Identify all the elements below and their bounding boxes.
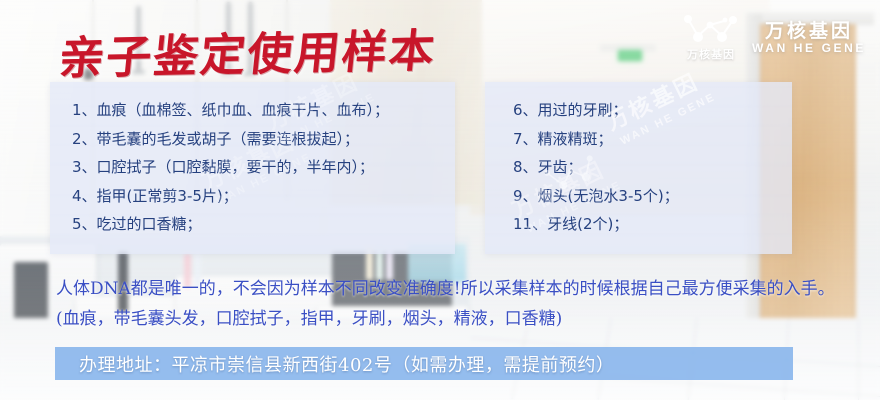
address-bar: 办理地址：平凉市崇信县新西街402号（如需办理，需提前预约） xyxy=(55,347,793,380)
sample-list-panel-left: 1、血痕（血棉签、纸巾血、血痕干片、血布）； 2、带毛囊的毛发或胡子（需要连根拔… xyxy=(50,82,455,254)
list-item: 4、指甲(正常剪3-5片)； xyxy=(72,182,455,211)
list-item: 7、精液精斑； xyxy=(513,125,792,154)
description-paragraph: 人体DNA都是唯一的，不会因为样本不同改变准确度!所以采集样本的时候根据自己最方… xyxy=(56,274,846,334)
page-title: 亲子鉴定使用样本 xyxy=(56,14,440,87)
list-item: 11、牙线(2个)； xyxy=(513,210,792,239)
molecule-icon xyxy=(682,14,740,44)
list-item: 3、口腔拭子（口腔黏膜，要干的，半年内）； xyxy=(72,153,455,182)
poster-canvas: 万核基因 万核基因 WAN HE GENE 亲子鉴定使用样本 1、血痕（血棉签、… xyxy=(0,0,880,400)
sample-list-right: 6、用过的牙刷； 7、精液精斑； 8、牙齿； 9、烟头(无泡水3-5个)； 11… xyxy=(485,82,792,239)
list-item: 2、带毛囊的毛发或胡子（需要连根拔起）； xyxy=(72,125,455,154)
logo-mark: 万核基因 xyxy=(682,14,740,62)
list-item: 8、牙齿； xyxy=(513,153,792,182)
list-item: 1、血痕（血棉签、纸巾血、血痕干片、血布）； xyxy=(72,96,455,125)
list-item: 6、用过的牙刷； xyxy=(513,96,792,125)
sample-list-panel-right: 6、用过的牙刷； 7、精液精斑； 8、牙齿； 9、烟头(无泡水3-5个)； 11… xyxy=(485,82,792,254)
logo-name-en: WAN HE GENE xyxy=(752,42,866,55)
address-text: 办理地址：平凉市崇信县新西街402号（如需办理，需提前预约） xyxy=(55,351,614,377)
logo-mark-label: 万核基因 xyxy=(687,46,735,62)
list-item: 9、烟头(无泡水3-5个)； xyxy=(513,182,792,211)
sample-list-left: 1、血痕（血棉签、纸巾血、血痕干片、血布）； 2、带毛囊的毛发或胡子（需要连根拔… xyxy=(50,82,455,239)
list-item: 5、吃过的口香糖； xyxy=(72,210,455,239)
logo-name-cn: 万核基因 xyxy=(765,21,853,42)
logo-wordmark: 万核基因 WAN HE GENE xyxy=(752,21,866,56)
brand-logo: 万核基因 万核基因 WAN HE GENE xyxy=(682,14,866,62)
